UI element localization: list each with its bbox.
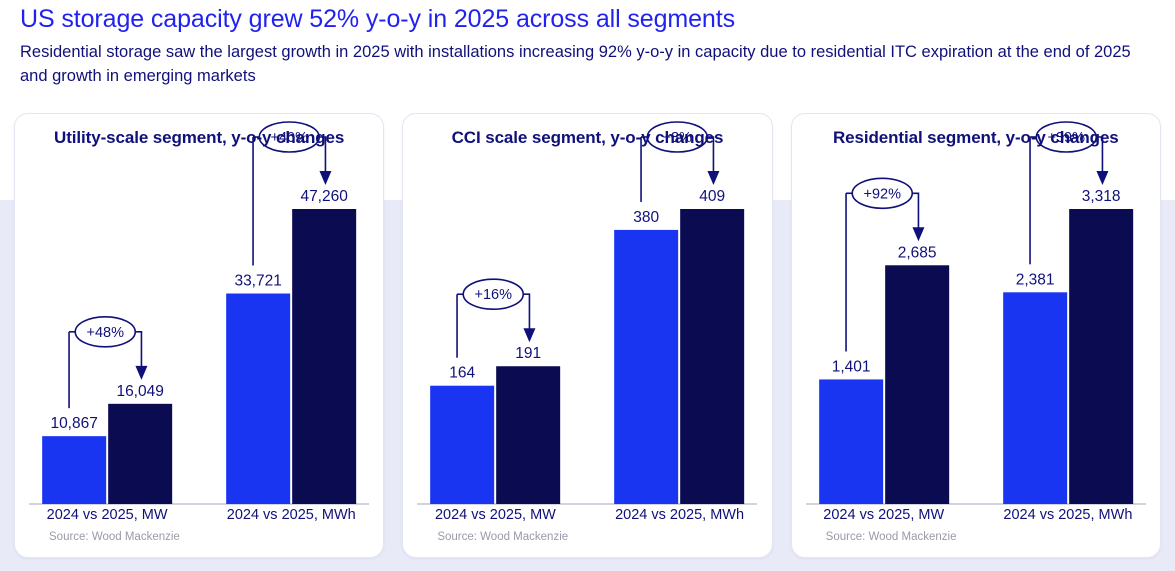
bar-value-label: 164 <box>450 365 476 382</box>
axis-labels: 2024 vs 2025, MW 2024 vs 2025, MWh <box>792 507 1160 523</box>
growth-callout-label: +48% <box>86 325 124 341</box>
growth-callout-label: +92% <box>863 186 901 202</box>
axis-labels: 2024 vs 2025, MW 2024 vs 2025, MWh <box>403 507 771 523</box>
axis-label-mwh: 2024 vs 2025, MWh <box>976 507 1160 523</box>
page-header: US storage capacity grew 52% y-o-y in 20… <box>0 0 1175 88</box>
growth-callout-label: +16% <box>475 287 513 303</box>
axis-label-mw: 2024 vs 2025, MW <box>792 507 976 523</box>
bar-value-label: 33,721 <box>234 273 281 290</box>
bar-value-label: 10,867 <box>50 415 97 432</box>
axis-label-mw: 2024 vs 2025, MW <box>15 507 199 523</box>
growth-callout-label: +8% <box>663 130 693 146</box>
bar-value-label: 2,685 <box>897 244 936 261</box>
source-note: Source: Wood Mackenzie <box>403 531 771 543</box>
axis-label-mw: 2024 vs 2025, MW <box>403 507 587 523</box>
bar-value-label: 1,401 <box>831 358 870 375</box>
bar-chart-cci-scale[interactable]: 164191+16%380409+8% <box>403 114 771 506</box>
axis-label-mwh: 2024 vs 2025, MWh <box>588 507 772 523</box>
panel-utility-scale[interactable]: Utility-scale segment, y-o-y changes 10,… <box>14 113 384 558</box>
axis-labels: 2024 vs 2025, MW 2024 vs 2025, MWh <box>15 507 383 523</box>
bar-value-label: 3,318 <box>1081 188 1120 205</box>
bar-chart-residential[interactable]: 1,4012,685+92%2,3813,318+39% <box>792 114 1160 506</box>
bar-value-label: 409 <box>700 188 726 205</box>
bar-value-label: 47,260 <box>300 188 348 205</box>
source-note: Source: Wood Mackenzie <box>15 531 383 543</box>
axis-label-mwh: 2024 vs 2025, MWh <box>199 507 383 523</box>
source-note: Source: Wood Mackenzie <box>792 531 1160 543</box>
growth-callout-label: +40% <box>270 130 308 146</box>
bar-value-label: 16,049 <box>116 383 163 400</box>
chart-panels: Utility-scale segment, y-o-y changes 10,… <box>0 113 1175 558</box>
growth-callout-label: +39% <box>1047 130 1085 146</box>
bar-chart-utility-scale[interactable]: 10,86716,049+48%33,72147,260+40% <box>15 114 383 506</box>
bar-value-label: 380 <box>634 209 660 226</box>
page-title: US storage capacity grew 52% y-o-y in 20… <box>20 4 1155 34</box>
panel-cci-scale[interactable]: CCI scale segment, y-o-y changes 164191+… <box>402 113 772 558</box>
bar-value-label: 2,381 <box>1015 271 1054 288</box>
bar-value-label: 191 <box>516 345 542 362</box>
page-subtitle: Residential storage saw the largest grow… <box>20 40 1140 88</box>
panel-residential[interactable]: Residential segment, y-o-y changes 1,401… <box>791 113 1161 558</box>
